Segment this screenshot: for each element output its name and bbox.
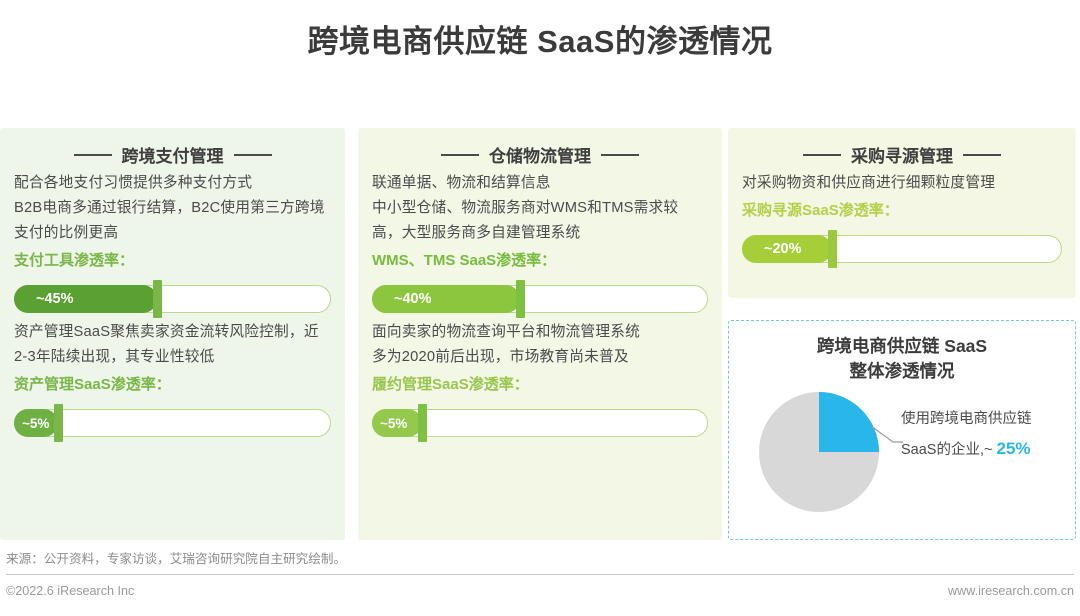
progress-bar: ~40% bbox=[372, 282, 708, 316]
progress-fill: ~45% bbox=[14, 285, 157, 313]
pie-chart-title: 跨境电商供应链 SaaS 整体渗透情况 bbox=[729, 334, 1075, 384]
progress-fill: ~20% bbox=[742, 235, 832, 263]
copyright-text: ©2022.6 iResearch Inc bbox=[6, 584, 134, 598]
dash-left-icon bbox=[74, 154, 112, 156]
pie-title-line1: 跨境电商供应链 SaaS bbox=[729, 334, 1075, 359]
dash-right-icon bbox=[601, 154, 639, 156]
footer-divider bbox=[6, 574, 1074, 575]
card-header: 仓储物流管理 bbox=[358, 128, 722, 167]
card-header: 采购寻源管理 bbox=[728, 128, 1076, 167]
card-paragraph: 对采购物资和供应商进行细颗粒度管理 bbox=[742, 171, 1062, 196]
callout-prefix: SaaS的企业,~ bbox=[901, 442, 997, 458]
progress-fill: ~5% bbox=[14, 409, 58, 437]
progress-marker bbox=[54, 404, 63, 442]
pie-slice-using-saas bbox=[819, 392, 879, 452]
card-paragraph: 资产管理SaaS聚焦卖家资金流转风险控制，近2-3年陆续出现，其专业性较低 bbox=[14, 320, 331, 370]
metric-label: 履约管理SaaS渗透率： bbox=[372, 372, 708, 397]
page-title: 跨境电商供应链 SaaS的渗透情况 bbox=[0, 16, 1080, 61]
card-title: 仓储物流管理 bbox=[489, 142, 591, 167]
metric-label: 支付工具渗透率： bbox=[14, 248, 331, 273]
dash-left-icon bbox=[803, 154, 841, 156]
card-paragraph: 配合各地支付习惯提供多种支付方式B2B电商多通过银行结算，B2C使用第三方跨境支… bbox=[14, 171, 331, 246]
source-note: 来源：公开资料，专家访谈，艾瑞咨询研究院自主研究绘制。 bbox=[6, 548, 346, 567]
progress-bar: ~5% bbox=[14, 406, 331, 440]
card-paragraph: 联通单据、物流和结算信息中小型仓储、物流服务商对WMS和TMS需求较高，大型服务… bbox=[372, 171, 708, 246]
overall-penetration-panel: 跨境电商供应链 SaaS 整体渗透情况 使用跨境电商供应链 SaaS的企业,~ … bbox=[728, 320, 1076, 540]
progress-bar: ~45% bbox=[14, 282, 331, 316]
website-link[interactable]: www.iresearch.com.cn bbox=[948, 584, 1074, 598]
card-warehouse-logistics: 仓储物流管理 联通单据、物流和结算信息中小型仓储、物流服务商对WMS和TMS需求… bbox=[358, 128, 722, 540]
card-procurement-sourcing: 采购寻源管理 对采购物资和供应商进行细颗粒度管理 采购寻源SaaS渗透率： ~2… bbox=[728, 128, 1076, 298]
callout-percent: 25% bbox=[997, 439, 1031, 458]
progress-fill: ~40% bbox=[372, 285, 520, 313]
metric-label: 资产管理SaaS渗透率： bbox=[14, 372, 331, 397]
progress-marker bbox=[516, 280, 525, 318]
progress-fill: ~5% bbox=[372, 409, 422, 437]
progress-bar: ~5% bbox=[372, 406, 708, 440]
progress-marker bbox=[418, 404, 427, 442]
card-title: 采购寻源管理 bbox=[851, 142, 953, 167]
pie-callout-label: 使用跨境电商供应链 SaaS的企业,~ 25% bbox=[901, 404, 1071, 465]
card-cross-border-payment: 跨境支付管理 配合各地支付习惯提供多种支付方式B2B电商多通过银行结算，B2C使… bbox=[0, 128, 345, 540]
dash-right-icon bbox=[234, 154, 272, 156]
pie-chart-svg bbox=[753, 386, 903, 518]
card-paragraph: 面向卖家的物流查询平台和物流管理系统多为2020前后出现，市场教育尚未普及 bbox=[372, 320, 708, 370]
dash-left-icon bbox=[441, 154, 479, 156]
progress-marker bbox=[828, 230, 837, 268]
callout-line2: SaaS的企业,~ 25% bbox=[901, 434, 1071, 465]
dash-right-icon bbox=[963, 154, 1001, 156]
progress-bar: ~20% bbox=[742, 232, 1062, 266]
pie-title-line2: 整体渗透情况 bbox=[729, 359, 1075, 384]
card-title: 跨境支付管理 bbox=[122, 142, 224, 167]
callout-line1: 使用跨境电商供应链 bbox=[901, 404, 1071, 434]
progress-marker bbox=[153, 280, 162, 318]
card-header: 跨境支付管理 bbox=[0, 128, 345, 167]
infographic-page: 跨境电商供应链 SaaS的渗透情况 跨境支付管理 配合各地支付习惯提供多种支付方… bbox=[0, 0, 1080, 616]
pie-chart-area: 使用跨境电商供应链 SaaS的企业,~ 25% bbox=[729, 384, 1075, 524]
metric-label: 采购寻源SaaS渗透率： bbox=[742, 198, 1062, 223]
metric-label: WMS、TMS SaaS渗透率： bbox=[372, 248, 708, 273]
